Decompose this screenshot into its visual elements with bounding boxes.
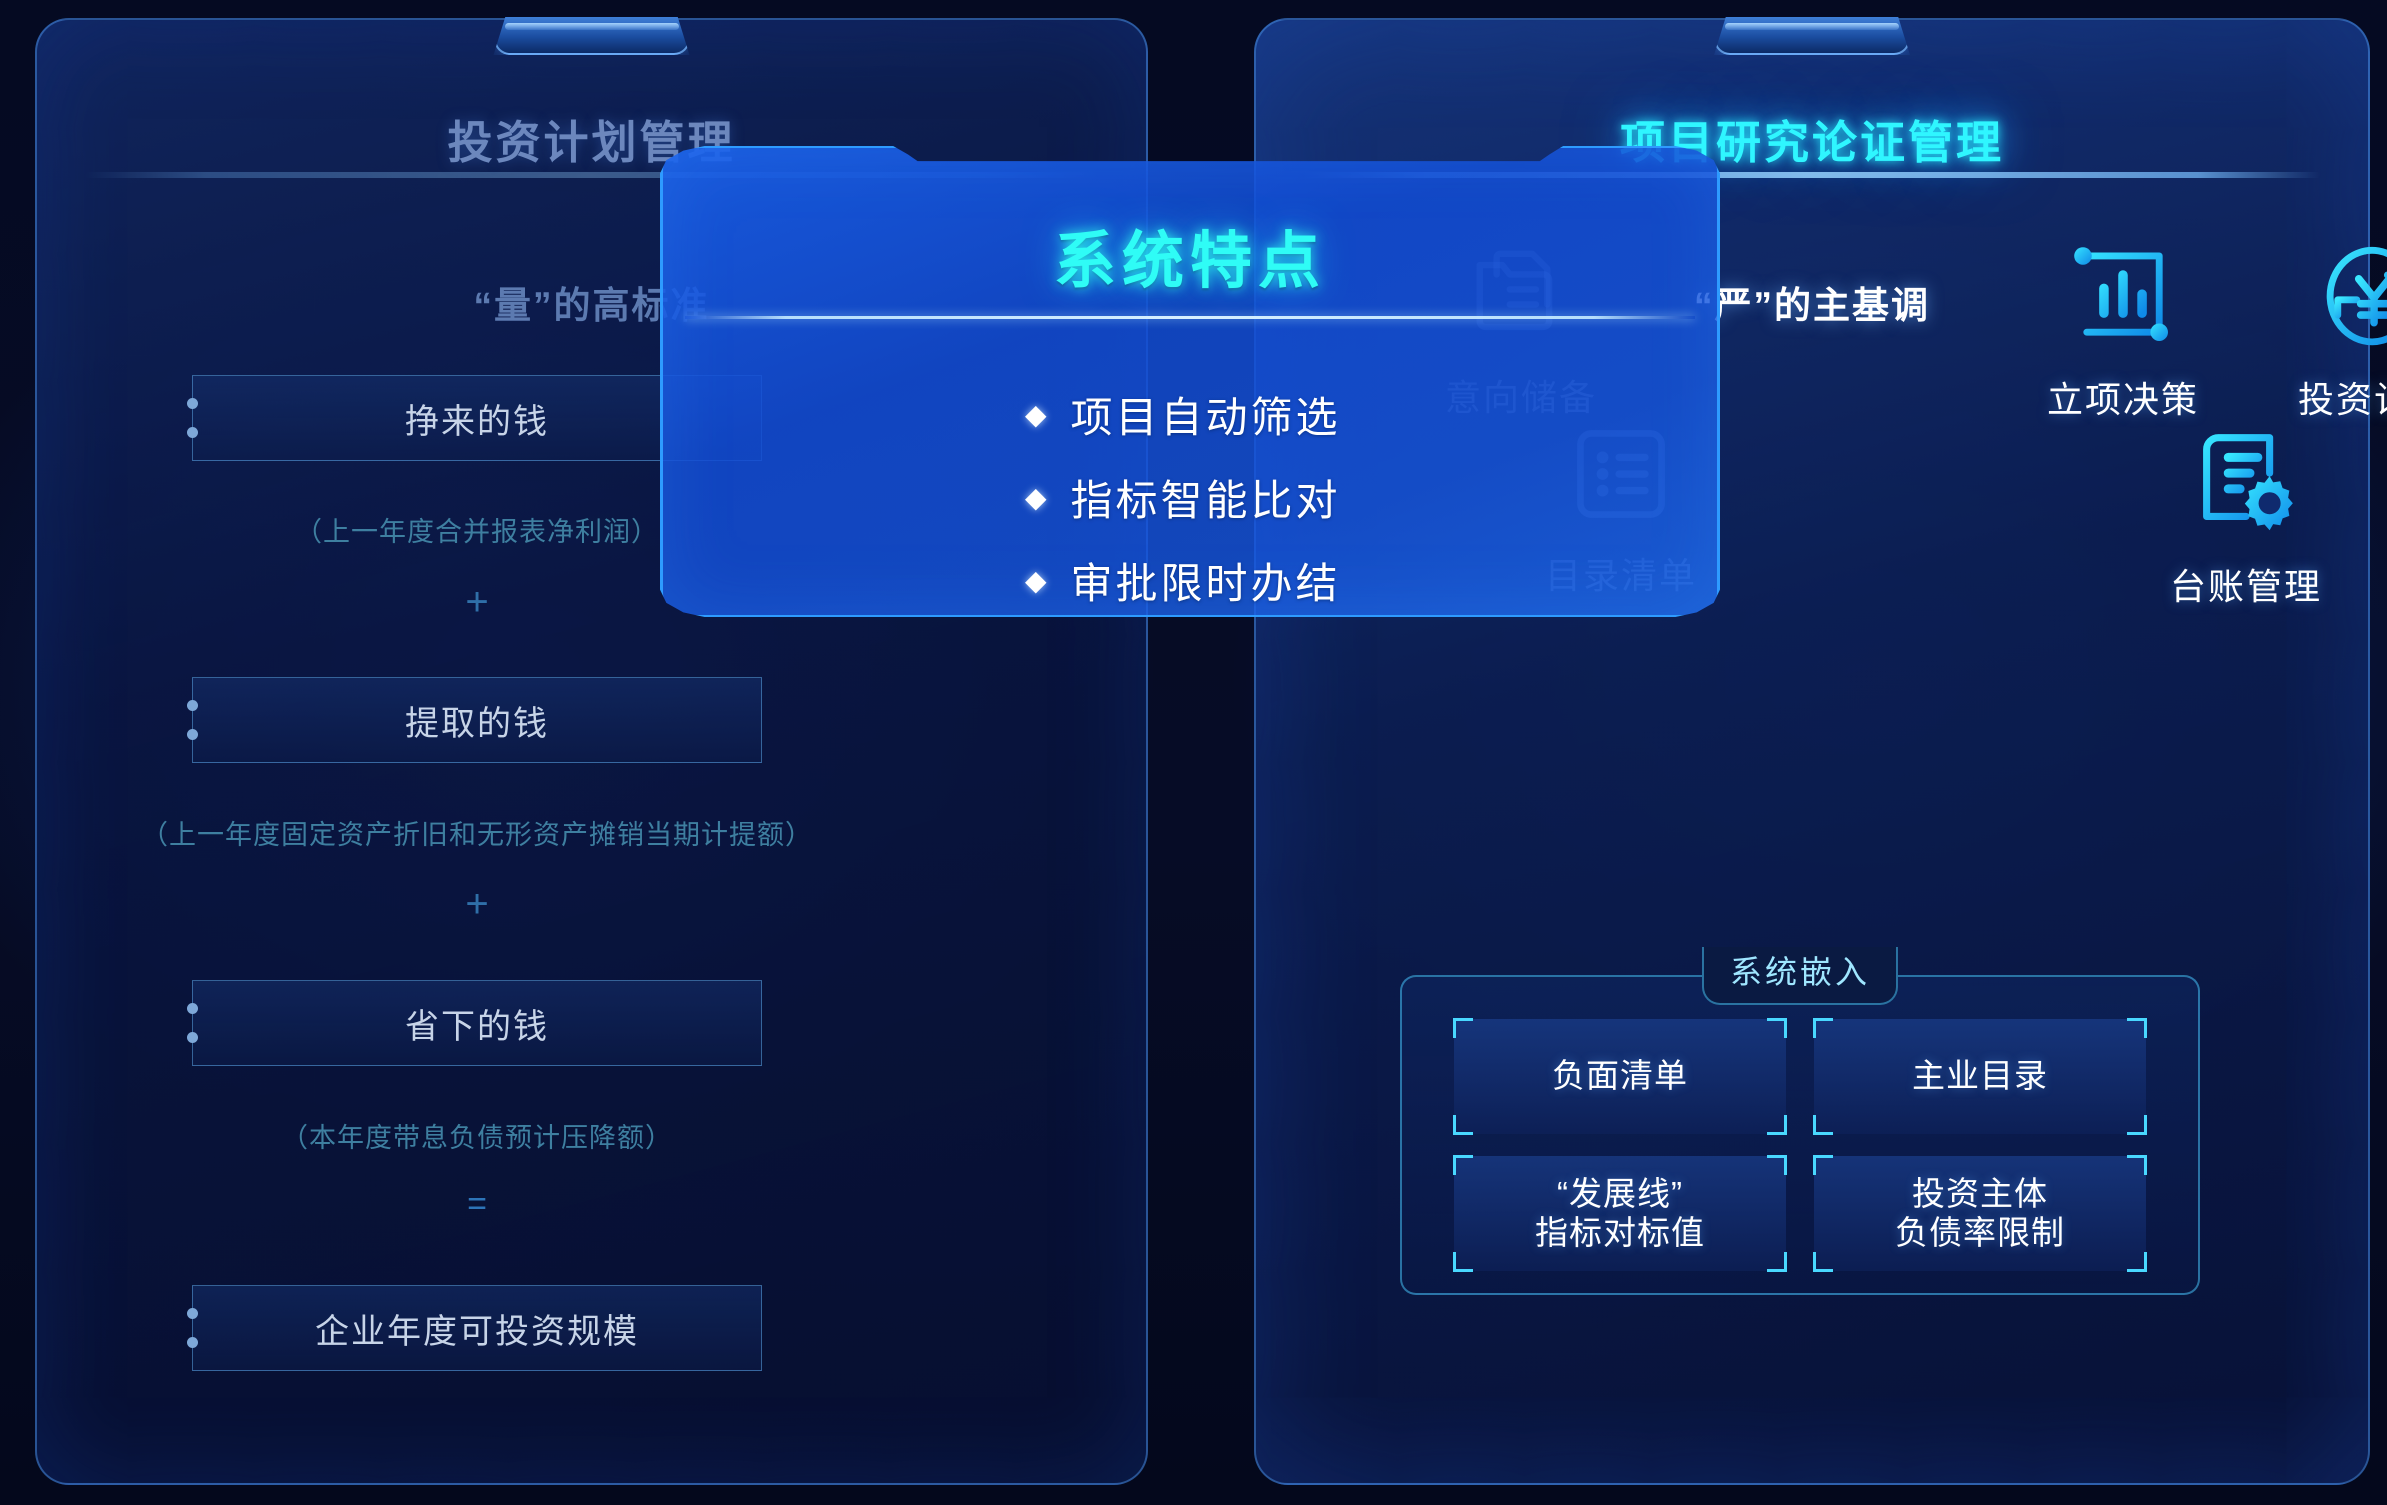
system-features-card[interactable]: 系统特点 ◆ 项目自动筛选 ◆ 指标智能比对 ◆ 审批限时办结 [660,145,1720,618]
embed-cell-negative-list[interactable]: 负面清单 [1454,1019,1786,1134]
slide-canvas: 投资计划管理 “量”的高标准 挣来的钱 （上一年度合并报表净利润） + 提取的钱… [0,0,2387,1505]
embed-cell-investor-debt-limit-label-2: 负债率限制 [1895,1214,2065,1253]
corner-bracket-icon [2127,1252,2147,1272]
system-embed-legend: 系统嵌入 [1702,947,1898,1005]
corner-bracket-icon [1767,1115,1787,1135]
diamond-bullet-icon: ◆ [1025,484,1047,512]
embed-cell-main-business-catalog-label: 主业目录 [1912,1057,2048,1096]
corner-bracket-icon [2127,1155,2147,1175]
embed-cell-investor-debt-limit-label-1: 投资主体 [1895,1175,2065,1214]
embed-cell-investor-debt-limit[interactable]: 投资主体 负债率限制 [1814,1156,2146,1271]
formula-box-3-label: 省下的钱 [405,999,549,1048]
embed-cell-main-business-catalog[interactable]: 主业目录 [1814,1019,2146,1134]
system-features-title: 系统特点 [663,210,1717,300]
system-embed-group: 系统嵌入 负面清单 主业目录 [1400,975,2200,1295]
corner-bracket-icon [1453,1155,1473,1175]
icon-cell-ledger-management[interactable]: 台账管理 [2131,418,2361,610]
formula-op-2: + [37,882,917,927]
system-feature-item-3[interactable]: ◆ 审批限时办结 [1025,550,1355,611]
icon-label-project-approval: 立项决策 [2008,371,2238,423]
system-feature-item-3-label: 审批限时办结 [1071,550,1341,611]
embed-cell-development-line[interactable]: “发展线” 指标对标值 [1454,1156,1786,1271]
panel-top-tab-left [494,17,690,55]
corner-bracket-icon [1453,1018,1473,1038]
formula-op-3: = [37,1185,917,1224]
corner-bracket-icon [1813,1252,1833,1272]
formula-box-2: 提取的钱 [192,677,762,763]
diamond-bullet-icon: ◆ [1025,567,1047,595]
corner-bracket-icon [2127,1115,2147,1135]
system-feature-item-2[interactable]: ◆ 指标智能比对 [1025,467,1355,528]
formula-box-3: 省下的钱 [192,980,762,1066]
system-feature-item-2-label: 指标智能比对 [1071,467,1341,528]
corner-bracket-icon [1767,1018,1787,1038]
system-embed-grid: 负面清单 主业目录 “发展线” 指标对标值 [1454,1019,2146,1271]
embed-cell-development-line-label-2: 指标对标值 [1535,1214,1705,1253]
bar-chart-icon [2008,235,2238,357]
formula-box-result-label: 企业年度可投资规模 [315,1304,639,1353]
diamond-bullet-icon: ◆ [1025,401,1047,429]
system-features-divider [685,316,1695,319]
embed-cell-negative-list-label: 负面清单 [1552,1057,1688,1096]
corner-bracket-icon [2127,1018,2147,1038]
icon-label-investment-plan: 投资计划 [2259,371,2387,423]
corner-bracket-icon [1813,1115,1833,1135]
icon-label-ledger-management: 台账管理 [2131,558,2361,610]
icon-cell-investment-plan[interactable]: 投资计划 [2259,235,2387,423]
system-feature-item-1-label: 项目自动筛选 [1071,384,1341,445]
system-feature-item-1[interactable]: ◆ 项目自动筛选 [1025,384,1355,445]
formula-box-1-label: 挣来的钱 [405,394,549,443]
system-features-list: ◆ 项目自动筛选 ◆ 指标智能比对 ◆ 审批限时办结 [663,384,1717,611]
formula-box-result: 企业年度可投资规模 [192,1285,762,1371]
corner-bracket-icon [1453,1115,1473,1135]
system-features-card-body: 系统特点 ◆ 项目自动筛选 ◆ 指标智能比对 ◆ 审批限时办结 [663,148,1717,615]
corner-bracket-icon [1453,1252,1473,1272]
formula-note-3: （本年度带息负债预计压降额） [37,1116,917,1155]
corner-bracket-icon [1813,1018,1833,1038]
icon-cell-project-approval[interactable]: 立项决策 [2008,235,2238,423]
yuan-cycle-icon [2259,235,2387,357]
corner-bracket-icon [1813,1155,1833,1175]
embed-cell-development-line-text: “发展线” 指标对标值 [1535,1175,1705,1253]
panel-top-tab-right [1714,17,1910,55]
embed-cell-development-line-label-1: “发展线” [1535,1175,1705,1214]
corner-bracket-icon [1767,1252,1787,1272]
doc-gear-icon [2131,418,2361,544]
formula-box-2-label: 提取的钱 [405,696,549,745]
corner-bracket-icon [1767,1155,1787,1175]
embed-cell-investor-debt-limit-text: 投资主体 负债率限制 [1895,1175,2065,1253]
formula-note-2: （上一年度固定资产折旧和无形资产摊销当期计提额） [37,813,917,852]
